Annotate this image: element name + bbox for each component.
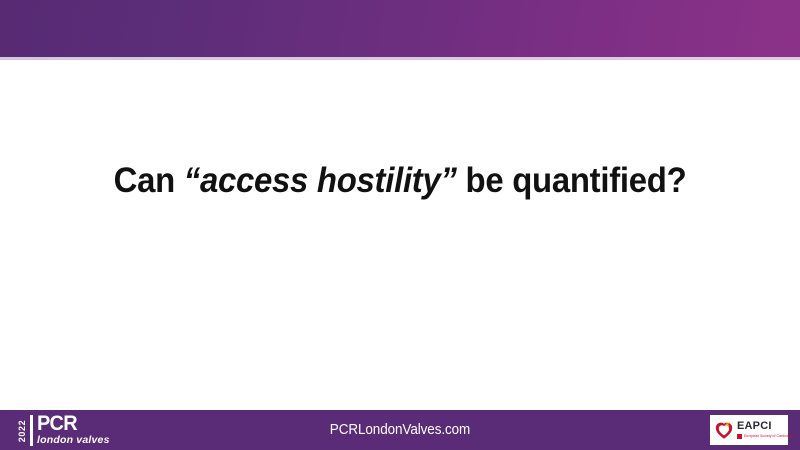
eapci-text-block: EAPCI European Society of Cardiology bbox=[737, 421, 793, 439]
eapci-logo: EAPCI European Society of Cardiology bbox=[710, 415, 788, 445]
footer-url: PCRLondonValves.com bbox=[28, 410, 772, 450]
banner-underline-divider bbox=[0, 57, 800, 60]
top-banner bbox=[0, 0, 800, 57]
footer-bar: 2022 PCR london valves PCRLondonValves.c… bbox=[0, 410, 800, 450]
eapci-tagline-row: European Society of Cardiology bbox=[737, 434, 793, 439]
page-title: Can “access hostility” be quantified? bbox=[62, 160, 739, 202]
title-quoted-phrase: “access hostility” bbox=[184, 161, 457, 200]
heart-icon bbox=[714, 420, 734, 440]
eapci-tagline: European Society of Cardiology bbox=[744, 435, 793, 438]
title-area: Can “access hostility” be quantified? bbox=[0, 160, 800, 202]
esc-mark-icon bbox=[737, 434, 742, 439]
presentation-slide: Can “access hostility” be quantified? 20… bbox=[0, 0, 800, 450]
logo-year-label: 2022 bbox=[18, 419, 28, 441]
title-suffix: be quantified? bbox=[457, 161, 687, 200]
footer-url-label: PCRLondonValves.com bbox=[330, 422, 470, 438]
eapci-name: EAPCI bbox=[737, 421, 793, 432]
title-prefix: Can bbox=[114, 161, 184, 200]
